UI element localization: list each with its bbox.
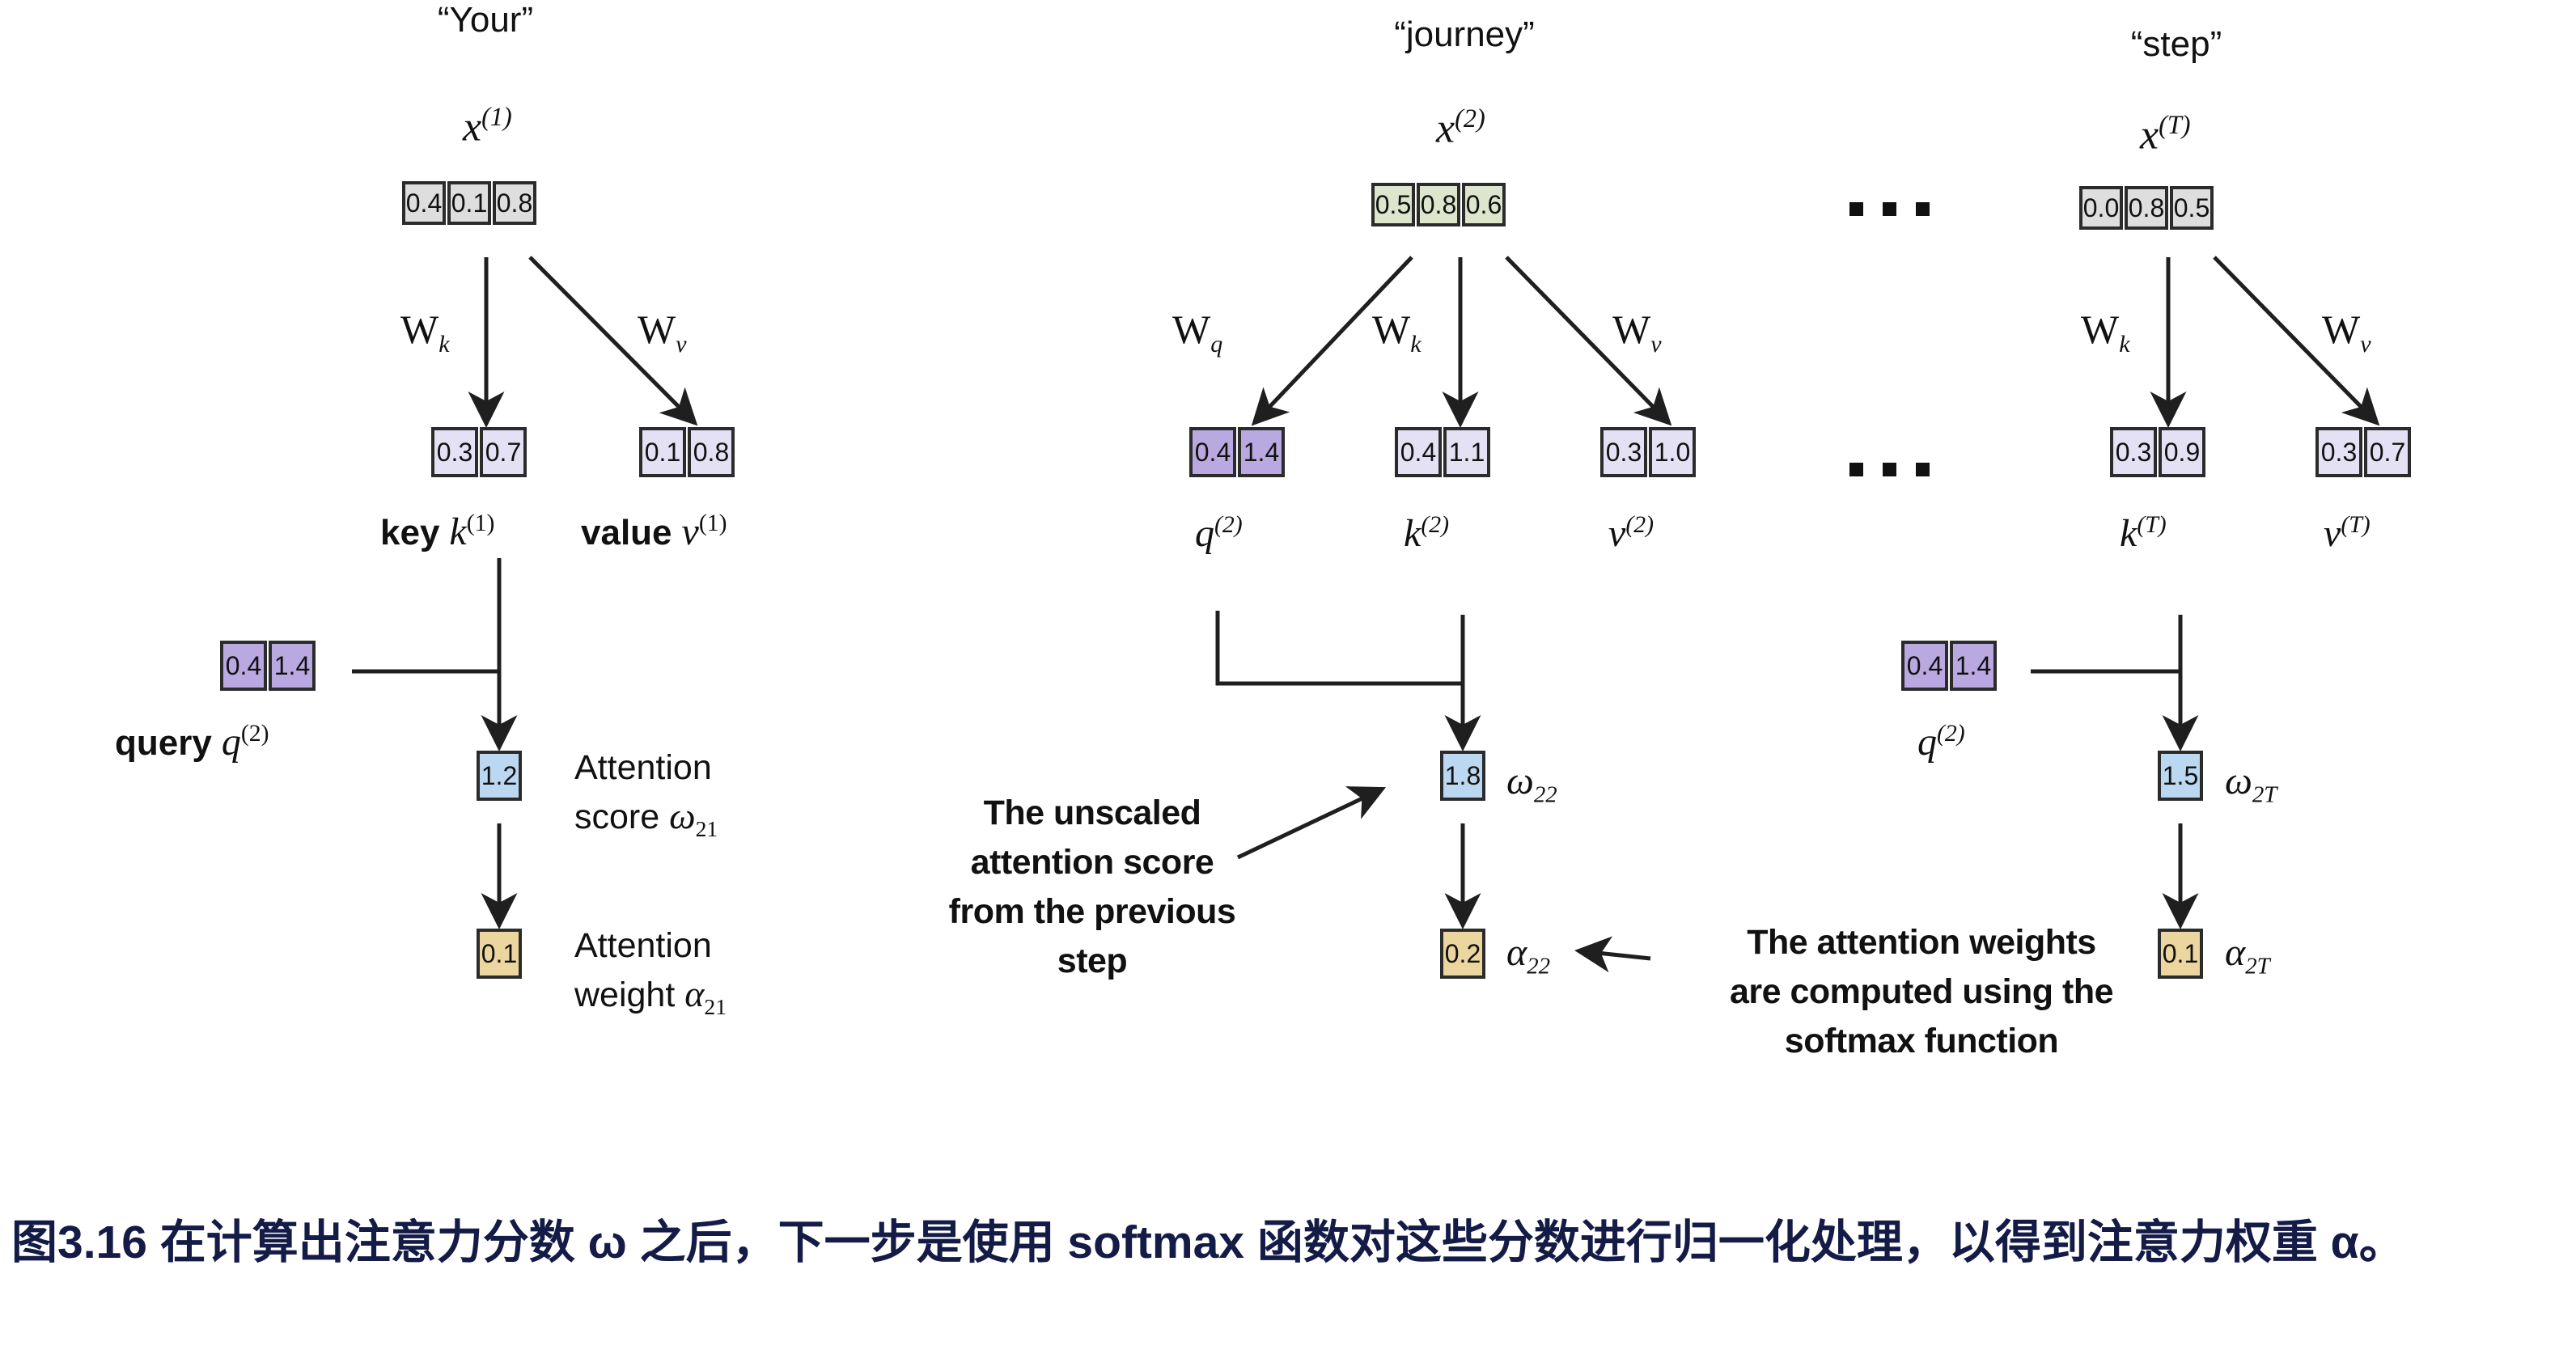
weight-matrix-label-wk-2: Wk — [1372, 306, 1421, 358]
cell-value: 1.4 — [269, 641, 316, 691]
cell-value: 0.8 — [1417, 183, 1460, 226]
cell-value: 1.1 — [1443, 427, 1490, 477]
value-vector-label-3: v(T) — [2324, 511, 2371, 556]
key-vector-1: 0.3 0.7 — [431, 427, 527, 477]
figure-caption: 图3.16 在计算出注意力分数 ω 之后，下一步是使用 softmax 函数对这… — [11, 1210, 2536, 1276]
weight-matrix-label-wv-3: Wv — [2322, 306, 2371, 358]
cell-value: 0.1 — [2158, 929, 2203, 979]
cell-value: 0.5 — [2170, 186, 2214, 230]
annotation-softmax: The attention weights are computed using… — [1679, 918, 2164, 1066]
cell-value: 0.7 — [2364, 427, 2411, 477]
cell-value: 1.4 — [1950, 641, 1997, 691]
attention-score-box-1: 1.2 — [477, 751, 522, 801]
cell-value: 0.7 — [480, 427, 527, 477]
query-prefix: query — [115, 723, 212, 763]
attention-weight-symbol-3: α2T — [2225, 930, 2270, 980]
input-vector-2: 0.5 0.8 0.6 — [1371, 183, 1506, 226]
cell-value: 0.3 — [1600, 427, 1647, 477]
annotation-unscaled-score: The unscaled attention score from the pr… — [943, 789, 1242, 986]
value-prefix: value — [581, 513, 672, 552]
value-vector-1: 0.1 0.8 — [639, 427, 735, 477]
attention-score-box-3: 1.5 — [2158, 751, 2203, 801]
cell-value: 0.2 — [1440, 929, 1485, 979]
key-vector-label-3: k(T) — [2120, 511, 2167, 556]
attention-score-label-1: Attention score ω21 — [574, 744, 718, 844]
query-vector-1: 0.4 1.4 — [220, 641, 316, 691]
query-vector-label-3: q(2) — [1917, 720, 1965, 764]
attention-weight-symbol-2: α22 — [1506, 930, 1550, 980]
cell-value: 0.4 — [220, 641, 267, 691]
cell-value: 1.5 — [2158, 751, 2203, 801]
weight-label-line2: weight — [574, 976, 675, 1014]
attention-weight-box-2: 0.2 — [1440, 929, 1485, 979]
key-vector-3: 0.3 0.9 — [2110, 427, 2205, 477]
key-vector-2: 0.4 1.1 — [1395, 427, 1490, 477]
attention-score-symbol-3: ω2T — [2225, 759, 2277, 809]
attention-weight-box-1: 0.1 — [477, 929, 522, 979]
value-vector-label-2: v(2) — [1608, 511, 1654, 556]
weight-matrix-label-wk-1: Wk — [400, 306, 450, 358]
cell-value: 0.3 — [431, 427, 478, 477]
query-vector-2: 0.4 1.4 — [1189, 427, 1285, 477]
cell-value: 1.4 — [1238, 427, 1285, 477]
key-vector-label-2: k(2) — [1404, 511, 1449, 556]
key-prefix: key — [380, 513, 439, 552]
attention-weight-label-1: Attention weight α21 — [574, 922, 727, 1022]
input-vector-3: 0.0 0.8 0.5 — [2079, 186, 2214, 230]
cell-value: 0.1 — [477, 929, 522, 979]
cell-value: 0.1 — [447, 181, 491, 225]
score-label-line2: score — [574, 798, 659, 836]
value-vector-2: 0.3 1.0 — [1600, 427, 1696, 477]
cell-value: 0.9 — [2159, 427, 2205, 477]
cell-value: 0.4 — [1395, 427, 1442, 477]
query-vector-label-2: q(2) — [1195, 511, 1243, 556]
cell-value: 0.3 — [2315, 427, 2362, 477]
cell-value: 0.8 — [2125, 186, 2168, 230]
value-vector-3: 0.3 0.7 — [2315, 427, 2411, 477]
token-label-2: “journey” — [1359, 15, 1570, 55]
cell-value: 0.4 — [1901, 641, 1948, 691]
cell-value: 0.0 — [2079, 186, 2123, 230]
score-label-line1: Attention — [574, 744, 718, 791]
cell-value: 1.2 — [477, 751, 522, 801]
cell-value: 1.0 — [1649, 427, 1696, 477]
input-vector-label-3: x(T) — [2140, 110, 2191, 159]
cell-value: 0.6 — [1462, 183, 1506, 226]
cell-value: 0.8 — [688, 427, 735, 477]
query-vector-3: 0.4 1.4 — [1901, 641, 1997, 691]
attention-score-box-2: 1.8 — [1440, 751, 1485, 801]
ellipsis-bottom — [1849, 463, 1930, 476]
weight-label-line1: Attention — [574, 922, 727, 969]
cell-value: 1.8 — [1440, 751, 1485, 801]
cell-value: 0.5 — [1371, 183, 1415, 226]
weight-matrix-label-wv-1: Wv — [638, 306, 687, 358]
cell-value: 0.8 — [493, 181, 536, 225]
input-vector-1: 0.4 0.1 0.8 — [402, 181, 536, 225]
attention-weight-box-3: 0.1 — [2158, 929, 2203, 979]
attention-score-symbol-2: ω22 — [1506, 759, 1557, 809]
cell-value: 0.1 — [639, 427, 686, 477]
cell-value: 0.4 — [402, 181, 446, 225]
token-label-1: “Your” — [380, 0, 591, 40]
ellipsis-top — [1849, 202, 1930, 216]
cell-value: 0.4 — [1189, 427, 1236, 477]
weight-matrix-label-wk-3: Wk — [2081, 306, 2130, 358]
figure-canvas: “Your” x(1) 0.4 0.1 0.8 Wk Wv 0.3 0.7 0.… — [0, 0, 2576, 1367]
token-label-3: “step” — [2071, 24, 2282, 65]
input-vector-label-1: x(1) — [463, 102, 512, 150]
weight-matrix-label-wq-2: Wq — [1172, 306, 1222, 358]
weight-matrix-label-wv-2: Wv — [1612, 306, 1662, 358]
input-vector-label-2: x(2) — [1436, 104, 1485, 152]
key-vector-label-1: key k(1) — [380, 510, 494, 554]
cell-value: 0.3 — [2110, 427, 2157, 477]
value-vector-label-1: value v(1) — [581, 510, 727, 554]
query-vector-label-1: query q(2) — [115, 720, 269, 764]
